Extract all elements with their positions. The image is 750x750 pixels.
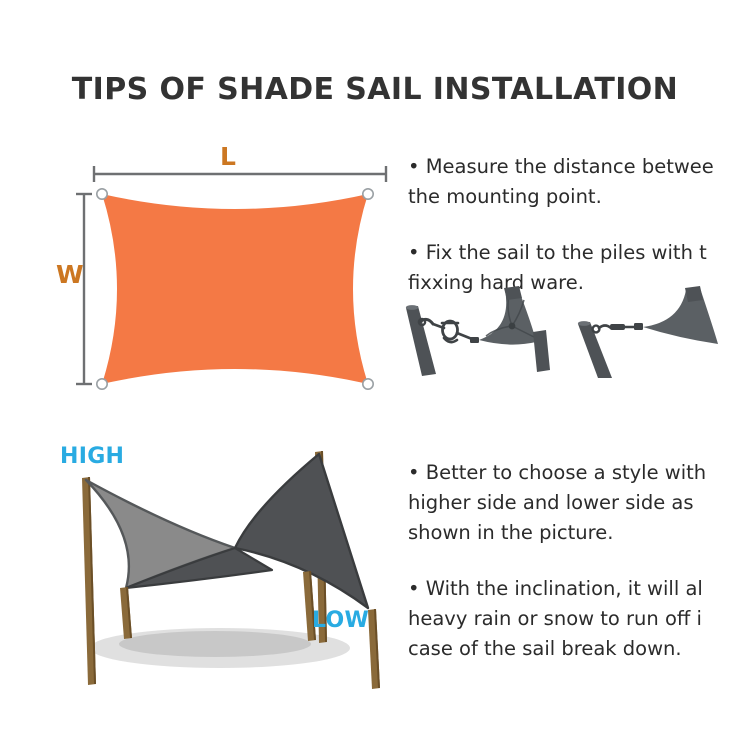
tip-line: the mounting point. (408, 182, 750, 212)
tip-text: Better to choose a style with (426, 461, 706, 484)
tip-line: • Fix the sail to the piles with t (408, 238, 750, 268)
tips-bottom-column: • Better to choose a style with higher s… (408, 458, 750, 664)
shade-sail-svg (60, 140, 410, 405)
tip-text: Measure the distance betwee (426, 155, 714, 178)
bullet-marker: • (408, 461, 420, 484)
mast-post-icon (685, 286, 703, 302)
tip-paragraph: • With the inclination, it will al heavy… (408, 574, 750, 664)
bullet-marker: • (408, 577, 420, 600)
fixing-hardware-illustrations (400, 282, 750, 378)
connector-block-icon (470, 337, 479, 343)
hardware-illustration-left (406, 286, 550, 376)
shade-sail-dark (235, 454, 368, 608)
turnbuckle-chain-icon (593, 326, 611, 333)
tip-line: • Better to choose a style with (408, 458, 750, 488)
hardware-svg (400, 282, 750, 378)
tip-line: case of the sail break down. (408, 634, 750, 664)
bullet-marker: • (408, 155, 420, 178)
page-title: TIPS OF SHADE SAIL INSTALLATION (0, 72, 750, 107)
tip-paragraph: • Measure the distance betwee the mounti… (408, 152, 750, 212)
length-label: L (220, 142, 236, 171)
sail-body (102, 194, 368, 384)
low-side-label: LOW (312, 608, 369, 633)
tip-text: With the inclination, it will al (426, 577, 703, 600)
ground-pole-icon (578, 322, 612, 378)
connector-block-icon (634, 323, 643, 330)
tip-paragraph: • Better to choose a style with higher s… (408, 458, 750, 548)
shade-sail-dimension-diagram: L W (60, 140, 410, 405)
high-side-label: HIGH (60, 444, 124, 469)
length-dimension-line (94, 166, 386, 182)
infographic-page: TIPS OF SHADE SAIL INSTALLATION (0, 0, 750, 750)
hardware-illustration-right (578, 286, 718, 378)
canopy-scene-svg (20, 430, 415, 695)
tip-line: shown in the picture. (408, 518, 750, 548)
tips-top-column: • Measure the distance betwee the mounti… (408, 152, 750, 298)
tip-line: higher side and lower side as (408, 488, 750, 518)
bullet-marker: • (408, 241, 420, 264)
tip-line: heavy rain or snow to run off i (408, 604, 750, 634)
ground-pole-icon (406, 306, 436, 376)
width-label: W (56, 260, 84, 289)
turnbuckle-icon (433, 321, 472, 342)
side-post-icon (533, 330, 550, 372)
tip-line: • Measure the distance betwee (408, 152, 750, 182)
tip-line: • With the inclination, it will al (408, 574, 750, 604)
tip-text: Fix the sail to the piles with t (426, 241, 707, 264)
mast-post-icon (504, 286, 522, 300)
ground-shadow-core (119, 631, 311, 657)
width-dimension-line (76, 194, 92, 384)
canopy-inclination-diagram: HIGH LOW (20, 430, 415, 695)
triangular-sail-corner (643, 288, 718, 344)
